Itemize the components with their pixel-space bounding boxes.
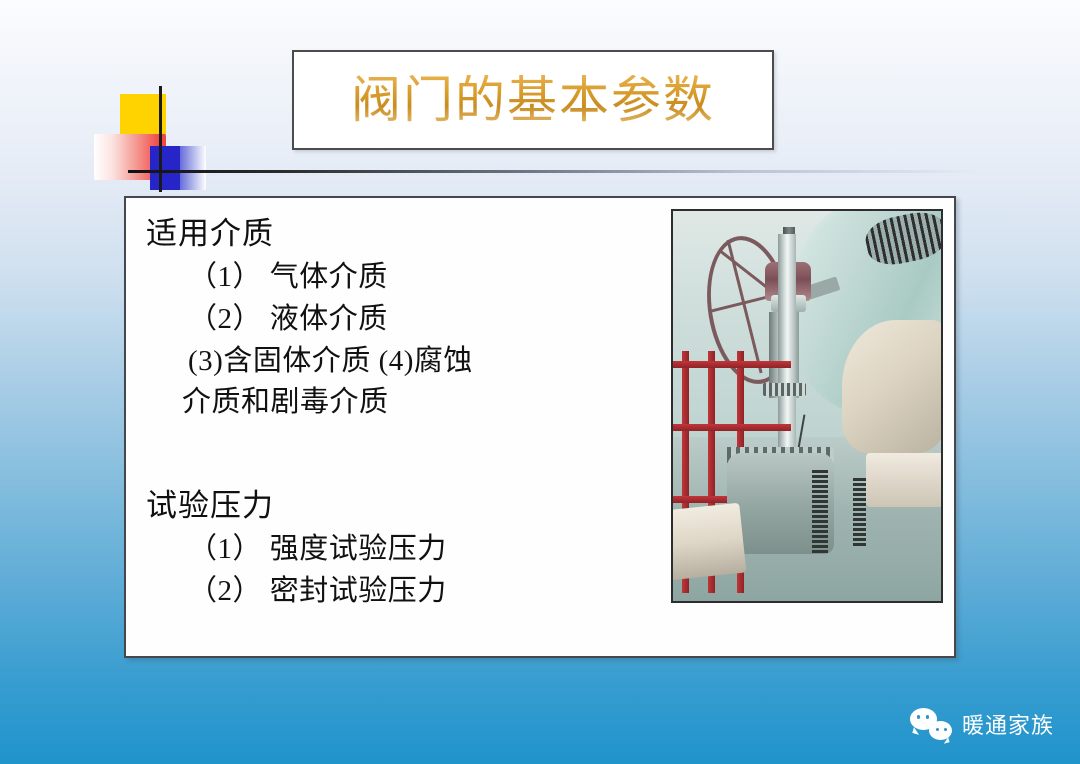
decorative-blue-solid-block	[150, 146, 180, 190]
bullet-media-toxic: 介质和剧毒介质	[138, 382, 648, 424]
photo-railing-rail	[673, 361, 791, 368]
bullet-list-container: 适用介质 （1） 气体介质 （2） 液体介质 (3)含固体介质 (4)腐蚀 介质…	[138, 208, 648, 613]
valve-photo-frame	[671, 209, 943, 603]
photo-insulated-pipe-right	[866, 453, 943, 508]
wechat-watermark: 暖通家族	[900, 704, 1064, 744]
bullet-media-gas: （1） 气体介质	[138, 257, 648, 299]
photo-railing-rail	[673, 424, 791, 431]
bullet-media-liquid: （2） 液体介质	[138, 299, 648, 341]
valve-photo	[673, 211, 941, 601]
bullet-media-solid-corrosive: (3)含固体介质 (4)腐蚀	[138, 341, 648, 383]
bullet-seal-test-pressure: （2） 密封试验压力	[138, 571, 648, 613]
wechat-icon	[910, 708, 952, 740]
slide-title: 阀门的基本参数	[351, 75, 715, 125]
decorative-horizontal-rule	[128, 170, 980, 173]
decorative-vertical-line	[159, 86, 162, 192]
section-heading-test-pressure: 试验压力	[138, 480, 648, 525]
section-spacer	[138, 424, 648, 480]
section-heading-media: 适用介质	[138, 208, 648, 253]
photo-insulated-pipe-left	[671, 503, 746, 582]
presentation-slide: 阀门的基本参数 适用介质 （1） 气体介质 （2） 液体介质 (3)含固体介质 …	[0, 0, 1080, 764]
slide-content-box: 适用介质 （1） 气体介质 （2） 液体介质 (3)含固体介质 (4)腐蚀 介质…	[124, 196, 956, 658]
bullet-strength-test-pressure: （1） 强度试验压力	[138, 529, 648, 571]
photo-flange-right	[853, 476, 866, 546]
wechat-account-name: 暖通家族	[962, 708, 1054, 740]
slide-title-box: 阀门的基本参数	[292, 50, 774, 150]
photo-flange-left	[812, 468, 828, 554]
photo-insulated-elbow	[842, 320, 943, 453]
